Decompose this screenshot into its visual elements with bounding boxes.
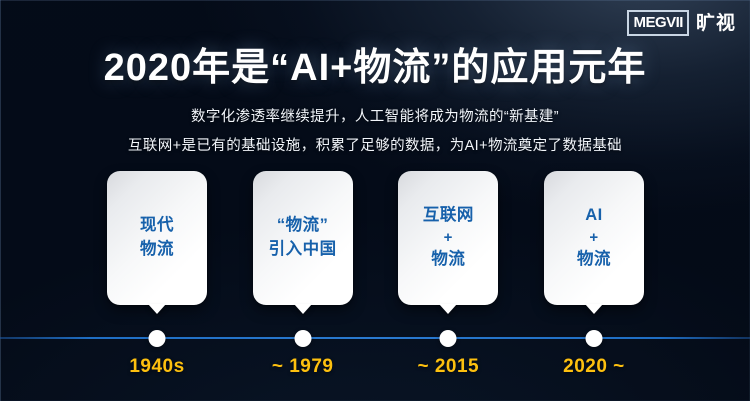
timeline-node: “物流” 引入中国 ~ 1979 xyxy=(253,171,353,391)
timeline-card-label: 现代 物流 xyxy=(140,214,174,262)
timeline-year-label: ~ 1979 xyxy=(272,356,334,378)
timeline-dot xyxy=(585,330,602,347)
brand-logo: MEGVII 旷视 xyxy=(627,10,736,36)
card-line: 互联网 xyxy=(423,206,474,224)
timeline-card: 现代 物流 xyxy=(107,171,207,305)
card-line: 引入中国 xyxy=(269,240,337,258)
page-title: 2020年是“AI+物流”的应用元年 xyxy=(0,48,750,90)
timeline-card: AI + 物流 xyxy=(544,171,644,305)
card-line: 现代 xyxy=(140,216,174,234)
timeline-card: “物流” 引入中国 xyxy=(253,171,353,305)
timeline-node: 互联网 + 物流 ~ 2015 xyxy=(398,171,498,391)
timeline-year-label: ~ 2015 xyxy=(417,356,479,378)
slide-root: MEGVII 旷视 2020年是“AI+物流”的应用元年 数字化渗透率继续提升，… xyxy=(0,0,750,401)
subtitle-line-1: 数字化渗透率继续提升，人工智能将成为物流的“新基建” xyxy=(0,105,750,126)
timeline-card-label: AI + 物流 xyxy=(577,204,611,271)
timeline-dot xyxy=(294,330,311,347)
timeline-card-label: 互联网 + 物流 xyxy=(423,204,474,271)
card-line: 物流 xyxy=(140,240,174,258)
card-line: 物流 xyxy=(577,250,611,268)
timeline-card: 互联网 + 物流 xyxy=(398,171,498,305)
timeline-dot xyxy=(149,330,166,347)
timeline-dot xyxy=(440,330,457,347)
card-line: + xyxy=(423,228,474,248)
timeline-year-label: 2020 ~ xyxy=(563,356,625,378)
card-line: “物流” xyxy=(277,216,329,234)
card-line: AI xyxy=(585,206,603,224)
subtitle-line-2: 互联网+是已有的基础设施，积累了足够的数据，为AI+物流奠定了数据基础 xyxy=(0,134,750,155)
card-line: 物流 xyxy=(431,250,465,268)
timeline-nodes: 现代 物流 1940s “物流” 引入中国 ~ 1979 互联网 + xyxy=(107,171,644,391)
timeline-node: AI + 物流 2020 ~ xyxy=(544,171,644,391)
logo-wordmark: MEGVII xyxy=(627,10,689,36)
timeline-year-label: 1940s xyxy=(129,356,184,378)
timeline-node: 现代 物流 1940s xyxy=(107,171,207,391)
card-line: + xyxy=(577,228,611,248)
timeline-card-label: “物流” 引入中国 xyxy=(269,214,337,262)
logo-chinese-name: 旷视 xyxy=(696,14,736,33)
